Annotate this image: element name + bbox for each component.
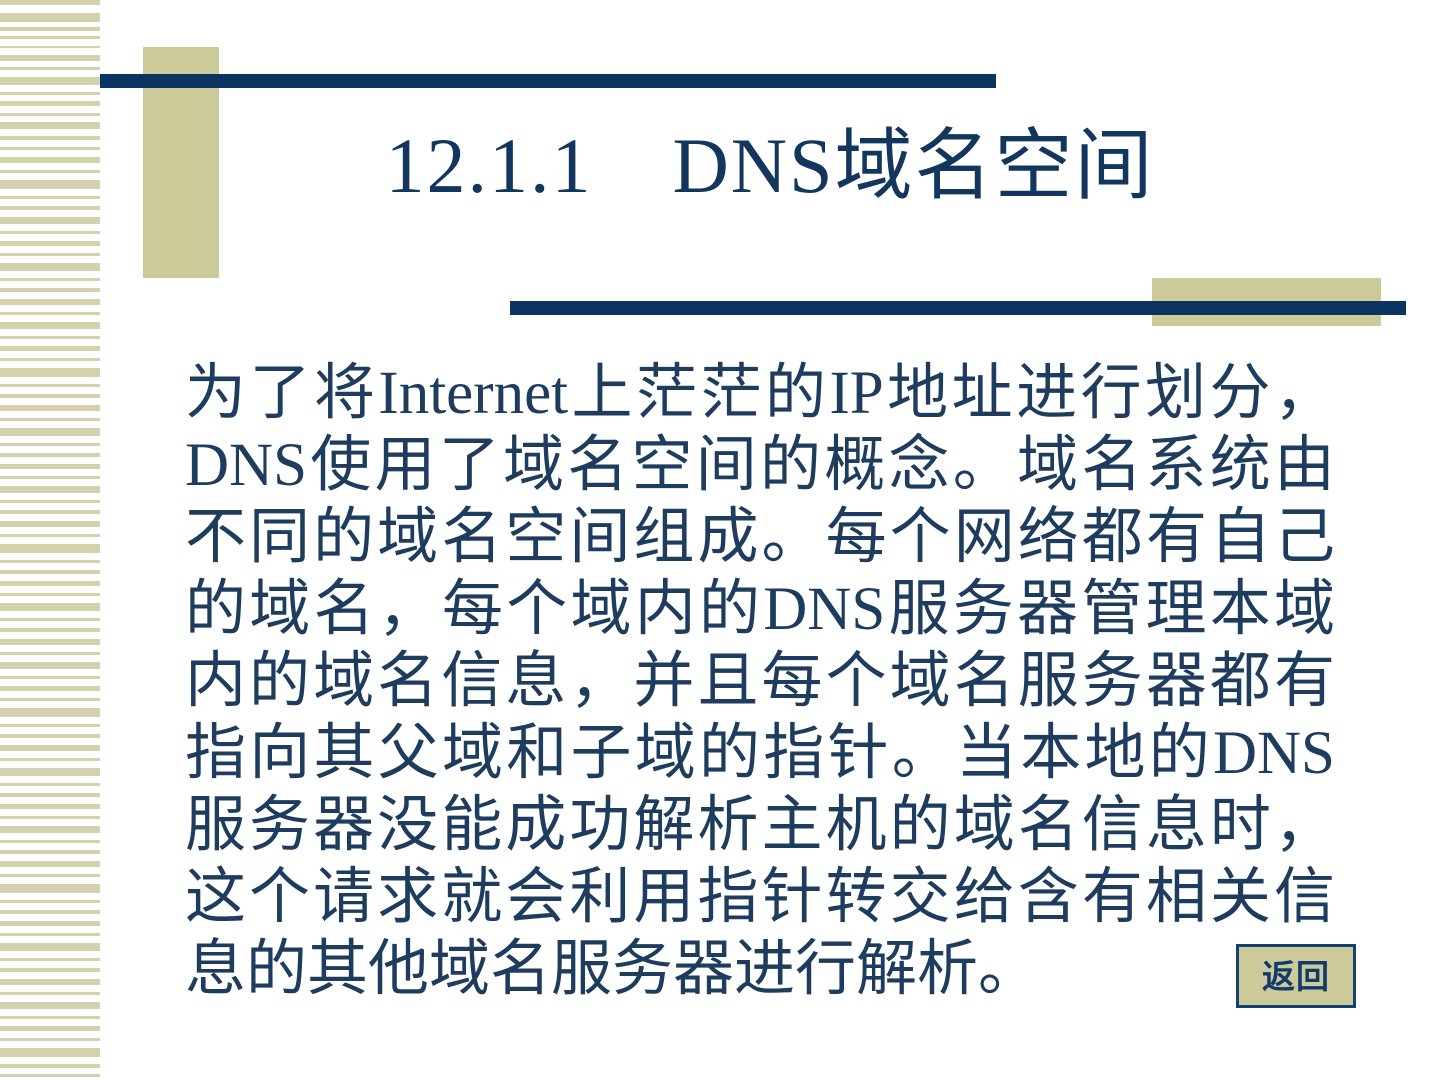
stripe-line bbox=[0, 826, 100, 833]
stripe-line bbox=[0, 418, 100, 421]
stripe-line bbox=[0, 253, 100, 256]
stripe-line bbox=[0, 113, 100, 116]
stripe-line bbox=[0, 560, 100, 563]
stripe-line bbox=[0, 1026, 100, 1031]
slide-canvas: 12.1.1 DNS域名空间 为了将Internet上茫茫的IP地址进行划分，D… bbox=[0, 0, 1440, 1080]
stripe-line bbox=[0, 861, 100, 867]
stripe-line bbox=[0, 486, 100, 493]
stripe-line bbox=[0, 510, 100, 514]
stripe-line bbox=[0, 27, 100, 31]
stripe-line bbox=[0, 157, 100, 163]
stripe-line bbox=[0, 850, 100, 854]
stripe-line bbox=[0, 55, 100, 61]
stripe-line bbox=[0, 768, 100, 776]
stripe-line bbox=[0, 299, 100, 305]
stripe-line bbox=[0, 368, 100, 377]
stripe-line bbox=[0, 170, 100, 173]
stripe-line bbox=[0, 453, 100, 457]
stripe-line bbox=[0, 758, 100, 761]
stripe-line bbox=[0, 136, 100, 140]
stripe-line bbox=[0, 979, 100, 985]
stripe-line bbox=[0, 358, 100, 361]
stripe-line bbox=[0, 336, 100, 339]
stripe-line bbox=[0, 521, 100, 527]
stripe-line bbox=[0, 0, 100, 5]
stripe-line bbox=[0, 958, 100, 961]
stripe-line bbox=[0, 593, 100, 596]
stripe-line bbox=[0, 346, 100, 351]
stripe-line bbox=[0, 745, 100, 751]
stripe-line bbox=[0, 570, 100, 574]
stripe-line bbox=[0, 874, 100, 877]
return-button-label: 返回 bbox=[1262, 960, 1330, 993]
stripe-line bbox=[0, 278, 100, 281]
stripe-line bbox=[0, 476, 100, 479]
slide-body-paragraph: 为了将Internet上茫茫的IP地址进行划分，DNS使用了域名空间的概念。域名… bbox=[185, 358, 1335, 1006]
stripe-line bbox=[0, 804, 100, 809]
stripe-line bbox=[0, 921, 100, 926]
stripe-line bbox=[0, 816, 100, 819]
stripe-line bbox=[0, 628, 100, 632]
stripe-line bbox=[0, 36, 100, 39]
stripe-line bbox=[0, 900, 100, 903]
stripe-line bbox=[0, 618, 100, 621]
stripe-line bbox=[0, 500, 100, 503]
stripe-line bbox=[0, 783, 100, 786]
stripe-line bbox=[0, 1064, 100, 1068]
stripe-line bbox=[0, 652, 100, 655]
navy-horizontal-rule-bottom bbox=[510, 301, 1406, 315]
stripe-line bbox=[0, 968, 100, 972]
stripe-line bbox=[0, 581, 100, 586]
stripe-line bbox=[0, 241, 100, 246]
stripe-line bbox=[0, 686, 100, 691]
stripe-line bbox=[0, 698, 100, 701]
stripe-line bbox=[0, 1074, 100, 1077]
stripe-line bbox=[0, 288, 100, 292]
stripe-line bbox=[0, 840, 100, 843]
stripe-line bbox=[0, 662, 100, 669]
stripe-line bbox=[0, 231, 100, 234]
stripe-line bbox=[0, 544, 100, 553]
navy-horizontal-rule-top bbox=[100, 74, 996, 88]
stripe-line bbox=[0, 1002, 100, 1009]
stripe-line bbox=[0, 46, 100, 48]
stripe-line bbox=[0, 910, 100, 914]
stripe-line bbox=[0, 1038, 100, 1041]
stripe-line bbox=[0, 1016, 100, 1019]
stripe-line bbox=[0, 443, 100, 446]
stripe-line bbox=[0, 92, 100, 95]
stripe-line bbox=[0, 793, 100, 797]
stripe-line bbox=[0, 67, 100, 70]
stripe-line bbox=[0, 147, 100, 150]
stripe-line bbox=[0, 312, 100, 315]
stripe-line bbox=[0, 217, 100, 224]
stripe-line bbox=[0, 101, 100, 106]
stripe-line bbox=[0, 884, 100, 893]
stripe-line bbox=[0, 708, 100, 717]
stripe-line bbox=[0, 1048, 100, 1057]
return-button[interactable]: 返回 bbox=[1236, 944, 1356, 1008]
stripe-line bbox=[0, 676, 100, 679]
stripe-line bbox=[0, 428, 100, 436]
stripe-line bbox=[0, 639, 100, 645]
stripe-line bbox=[0, 263, 100, 271]
stripe-line bbox=[0, 992, 100, 995]
stripe-line bbox=[0, 724, 100, 727]
stripe-line bbox=[0, 77, 100, 85]
stripe-line bbox=[0, 384, 100, 387]
stripe-line bbox=[0, 603, 100, 611]
stripe-line bbox=[0, 734, 100, 738]
stripe-line bbox=[0, 122, 100, 129]
stripe-line bbox=[0, 13, 100, 22]
stripe-line bbox=[0, 933, 100, 936]
stripe-line bbox=[0, 322, 100, 329]
stripe-line bbox=[0, 206, 100, 210]
stripe-line bbox=[0, 394, 100, 398]
stripe-line bbox=[0, 534, 100, 537]
stripe-line bbox=[0, 180, 100, 189]
stripe-line bbox=[0, 196, 100, 199]
left-stripe-decoration bbox=[0, 0, 100, 1080]
stripe-line bbox=[0, 405, 100, 411]
slide-title: 12.1.1 DNS域名空间 bbox=[180, 125, 1360, 207]
stripe-line bbox=[0, 943, 100, 951]
stripe-line bbox=[0, 464, 100, 469]
